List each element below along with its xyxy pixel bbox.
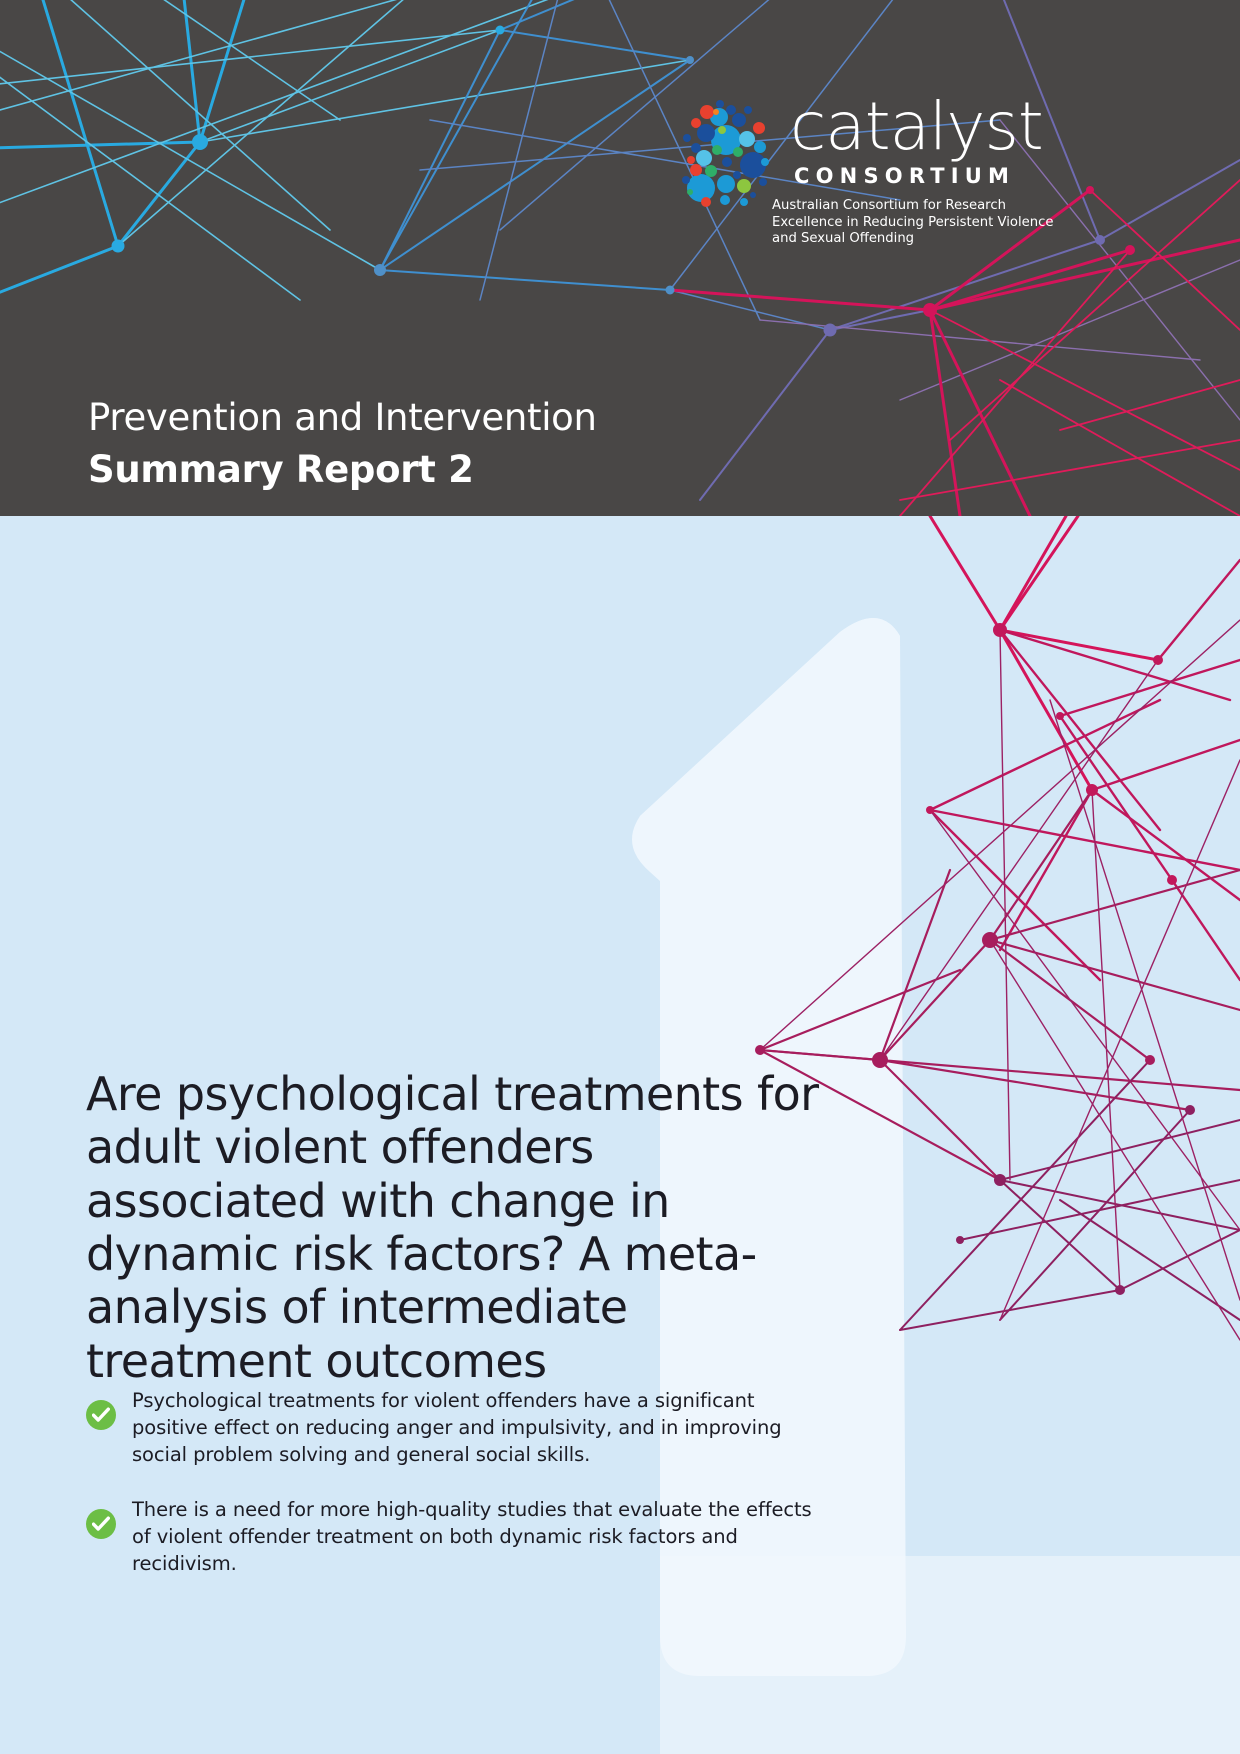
body-band: Are psychological treatments for adult v… bbox=[0, 516, 1240, 1754]
catalyst-dot-cluster-icon bbox=[660, 92, 790, 222]
list-item: Psychological treatments for violent off… bbox=[86, 1388, 826, 1469]
catalyst-wordmark: catalyst bbox=[790, 94, 1043, 160]
catalyst-consortium-word: CONSORTIUM bbox=[794, 164, 1015, 188]
report-cover-page: catalyst CONSORTIUM Australian Consortiu… bbox=[0, 0, 1240, 1754]
green-check-icon bbox=[86, 1400, 116, 1430]
series-title: Prevention and Intervention bbox=[88, 396, 597, 439]
check-wrapper bbox=[86, 1497, 132, 1578]
report-title: Summary Report 2 bbox=[88, 448, 474, 491]
key-finding-text: Psychological treatments for violent off… bbox=[132, 1388, 826, 1469]
check-wrapper bbox=[86, 1388, 132, 1469]
list-item: There is a need for more high-quality st… bbox=[86, 1497, 826, 1578]
catalyst-description: Australian Consortium for Research Excel… bbox=[772, 198, 1072, 248]
key-findings-list: Psychological treatments for violent off… bbox=[86, 1388, 826, 1605]
page-title: Are psychological treatments for adult v… bbox=[86, 1068, 846, 1388]
header-band: catalyst CONSORTIUM Australian Consortiu… bbox=[0, 0, 1240, 516]
green-check-icon bbox=[86, 1509, 116, 1539]
key-finding-text: There is a need for more high-quality st… bbox=[132, 1497, 826, 1578]
catalyst-logo: catalyst CONSORTIUM Australian Consortiu… bbox=[660, 92, 1060, 252]
